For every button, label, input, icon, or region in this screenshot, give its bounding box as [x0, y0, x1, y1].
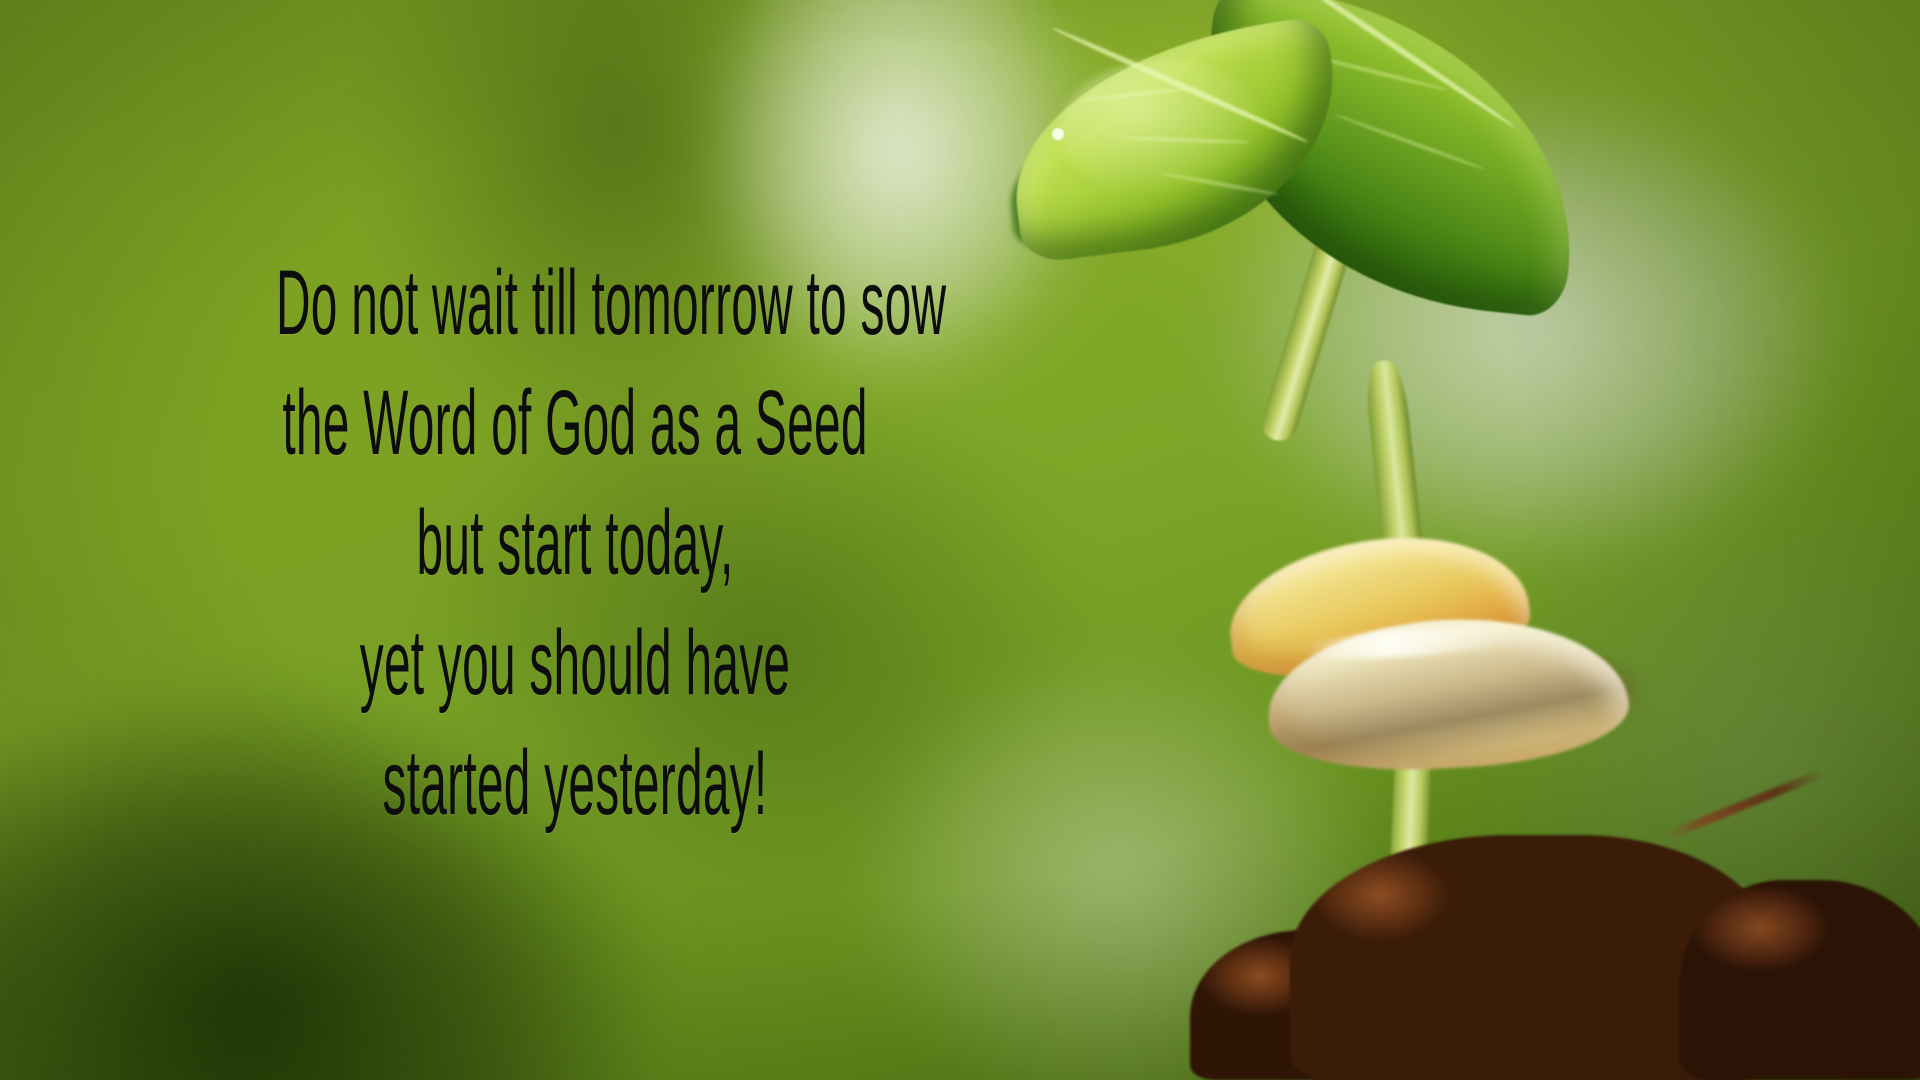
- quote-line-4: yet you should have: [276, 603, 874, 723]
- quote-image-canvas: Do not wait till tomorrow to sow the Wor…: [0, 0, 1920, 1080]
- quote-line-2: the Word of God as a Seed: [276, 363, 874, 483]
- quote-text-block: Do not wait till tomorrow to sow the Wor…: [0, 243, 1150, 843]
- quote-line-1: Do not wait till tomorrow to sow: [276, 243, 874, 363]
- quote-line-3: but start today,: [276, 483, 874, 603]
- quote-line-5: started yesterday!: [276, 723, 874, 843]
